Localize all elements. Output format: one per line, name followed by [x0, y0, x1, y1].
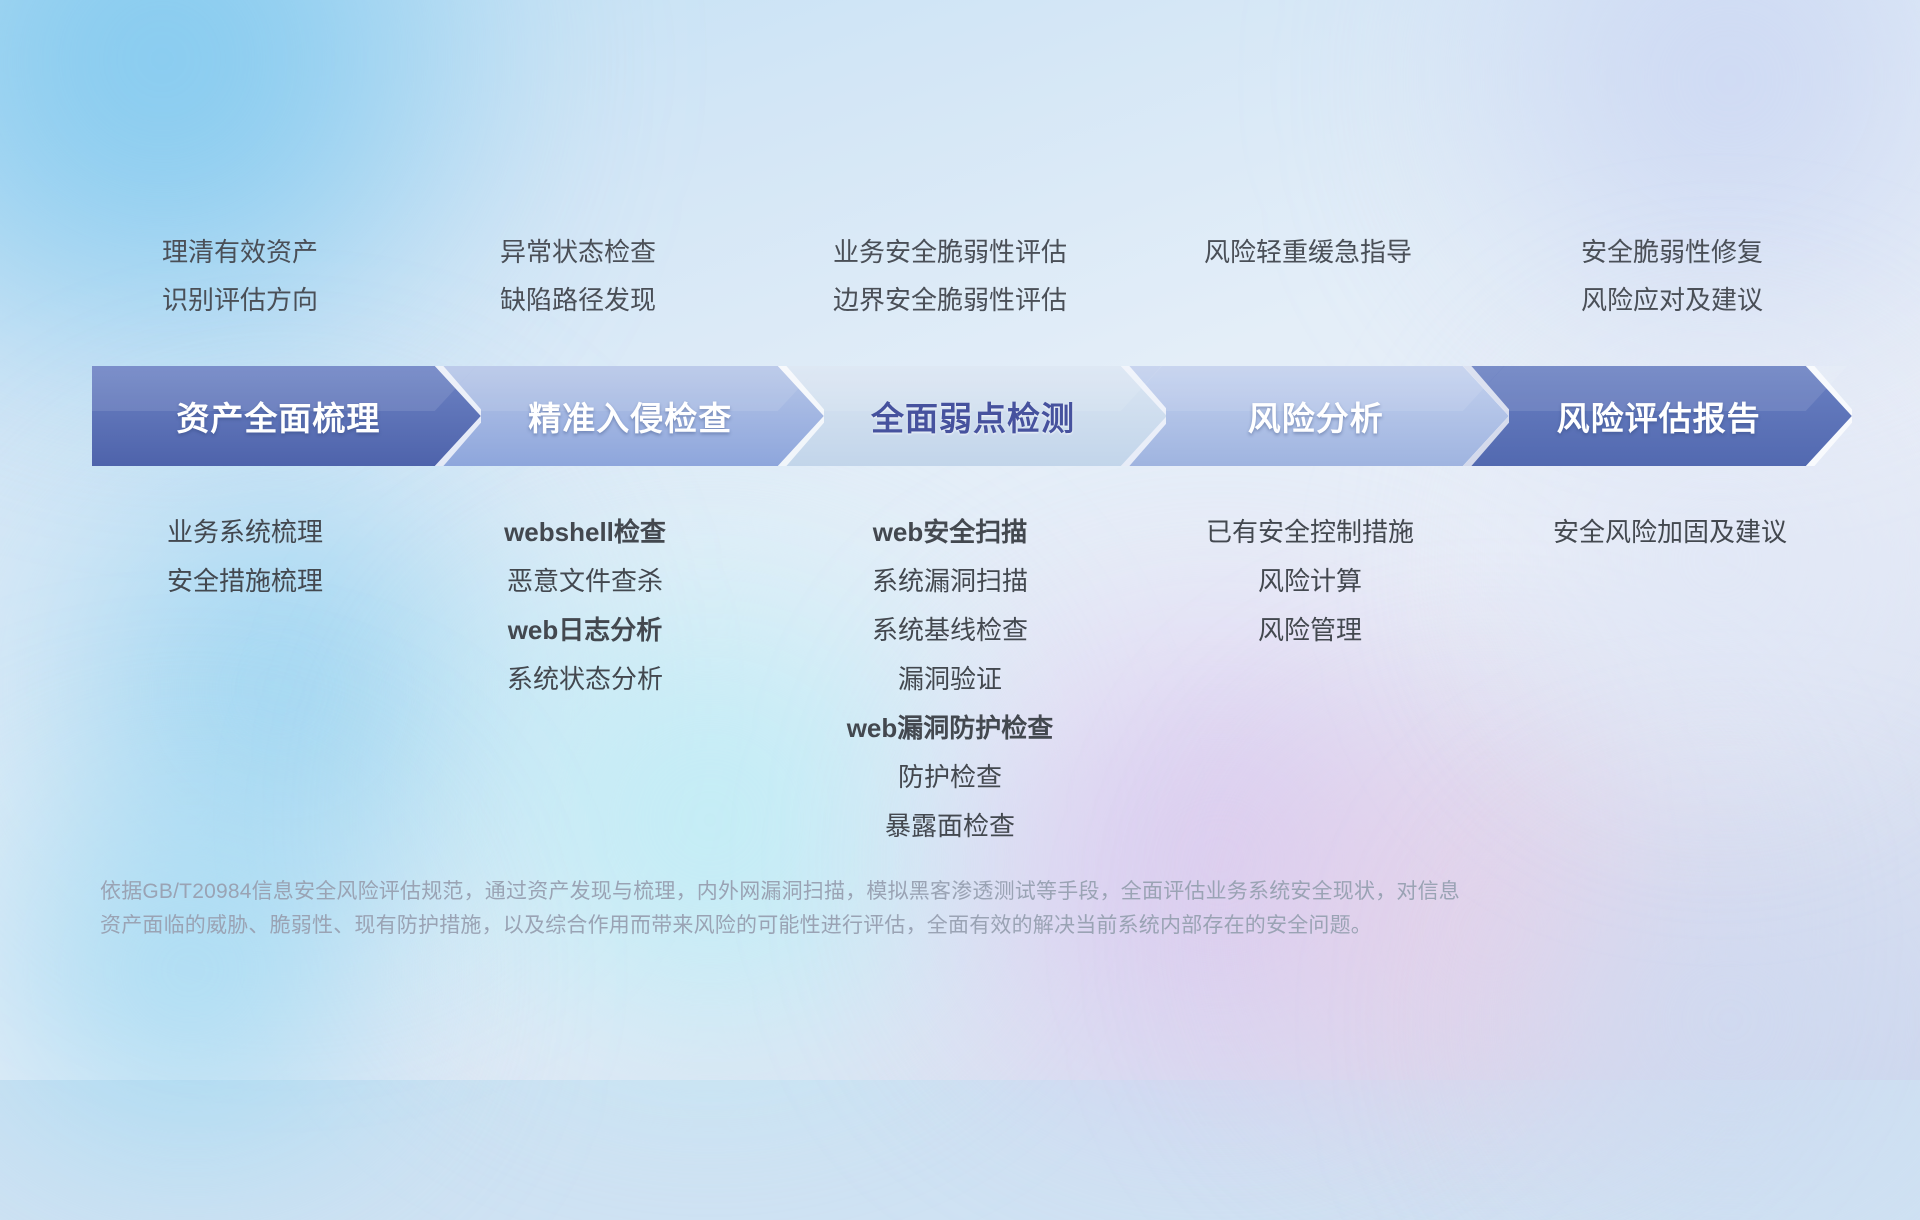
stage-chevron-label: 风险分析 [1248, 392, 1384, 440]
top-annotation-item: 风险轻重缓急指导 [1108, 228, 1508, 276]
stage-chevron-5[interactable]: 风险评估报告 [1463, 366, 1852, 466]
top-annotation-item: 安全脆弱性修复 [1472, 228, 1872, 276]
top-annotation-column-3: 业务安全脆弱性评估边界安全脆弱性评估 [750, 228, 1150, 324]
detail-item: 系统基线检查 [745, 606, 1155, 655]
detail-item: 系统漏洞扫描 [745, 557, 1155, 606]
footer-description: 依据GB/T20984信息安全风险评估规范，通过资产发现与梳理，内外网漏洞扫描，… [100, 875, 1800, 943]
top-annotation-column-4: 风险轻重缓急指导 [1108, 228, 1508, 276]
detail-item: 恶意文件查杀 [400, 557, 770, 606]
top-annotation-column-5: 安全脆弱性修复风险应对及建议 [1472, 228, 1872, 324]
stage-chevron-2[interactable]: 精准入侵检查 [435, 366, 824, 466]
detail-item: 安全风险加固及建议 [1460, 508, 1880, 557]
detail-item: 漏洞验证 [745, 655, 1155, 704]
stage-chevron-label: 风险评估报告 [1557, 392, 1761, 440]
top-annotation-item: 风险应对及建议 [1472, 276, 1872, 324]
top-annotation-item: 识别评估方向 [60, 276, 420, 324]
detail-column-3: web安全扫描系统漏洞扫描系统基线检查漏洞验证web漏洞防护检查防护检查暴露面检… [745, 508, 1155, 851]
detail-item: 防护检查 [745, 753, 1155, 802]
stage-chevron-3[interactable]: 全面弱点检测 [778, 366, 1167, 466]
detail-column-5: 安全风险加固及建议 [1460, 508, 1880, 557]
top-annotation-item: 缺陷路径发现 [398, 276, 758, 324]
top-annotation-item: 异常状态检查 [398, 228, 758, 276]
process-diagram: 理清有效资产识别评估方向异常状态检查缺陷路径发现业务安全脆弱性评估边界安全脆弱性… [0, 0, 1920, 1080]
detail-item: 风险计算 [1110, 557, 1510, 606]
detail-item: 暴露面检查 [745, 802, 1155, 851]
detail-item: 安全措施梳理 [60, 557, 430, 606]
detail-item: 系统状态分析 [400, 655, 770, 704]
top-annotation-row: 理清有效资产识别评估方向异常状态检查缺陷路径发现业务安全脆弱性评估边界安全脆弱性… [0, 228, 1920, 328]
detail-item: 业务系统梳理 [60, 508, 430, 557]
top-annotation-column-2: 异常状态检查缺陷路径发现 [398, 228, 758, 324]
detail-column-2: webshell检查恶意文件查杀web日志分析系统状态分析 [400, 508, 770, 704]
detail-item: web日志分析 [400, 606, 770, 655]
stage-chevron-label: 精准入侵检查 [528, 392, 732, 440]
stage-chevron-4[interactable]: 风险分析 [1120, 366, 1509, 466]
detail-item: 风险管理 [1110, 606, 1510, 655]
stage-chevron-1[interactable]: 资产全面梳理 [92, 366, 481, 466]
detail-item: 已有安全控制措施 [1110, 508, 1510, 557]
detail-column-4: 已有安全控制措施风险计算风险管理 [1110, 508, 1510, 655]
detail-item: web安全扫描 [745, 508, 1155, 557]
stage-chevron-banner: 资产全面梳理精准入侵检查全面弱点检测风险分析风险评估报告 [92, 366, 1852, 466]
footer-line-2: 资产面临的威胁、脆弱性、现有防护措施，以及综合作用而带来风险的可能性进行评估，全… [100, 909, 1800, 943]
top-annotation-item: 边界安全脆弱性评估 [750, 276, 1150, 324]
detail-column-1: 业务系统梳理安全措施梳理 [60, 508, 430, 606]
detail-item: webshell检查 [400, 508, 770, 557]
stage-chevron-label: 全面弱点检测 [871, 392, 1075, 440]
top-annotation-item: 理清有效资产 [60, 228, 420, 276]
top-annotation-item: 业务安全脆弱性评估 [750, 228, 1150, 276]
stage-chevron-label: 资产全面梳理 [176, 392, 380, 440]
detail-item: web漏洞防护检查 [745, 704, 1155, 753]
top-annotation-column-1: 理清有效资产识别评估方向 [60, 228, 420, 324]
footer-line-1: 依据GB/T20984信息安全风险评估规范，通过资产发现与梳理，内外网漏洞扫描，… [100, 875, 1800, 909]
